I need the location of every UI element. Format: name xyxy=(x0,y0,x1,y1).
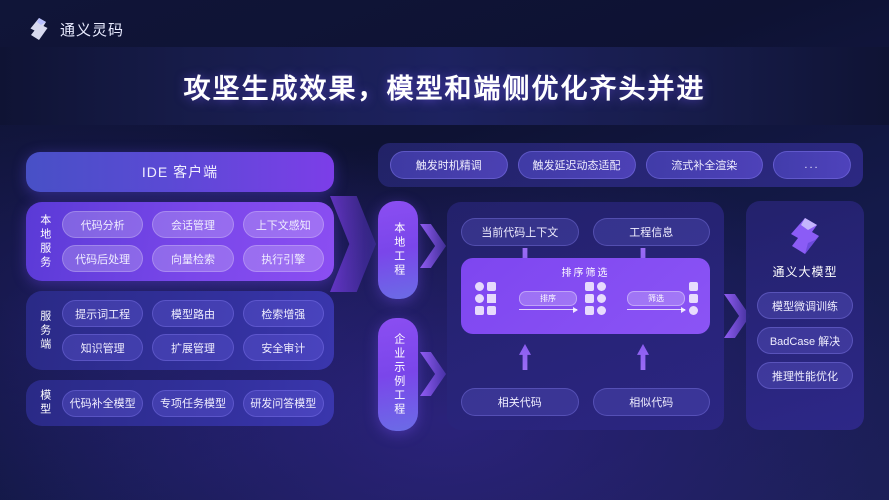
chip-context-awareness[interactable]: 上下文感知 xyxy=(243,211,324,238)
chip-task-specific-model[interactable]: 专项任务模型 xyxy=(152,390,233,417)
slide-canvas: 通义灵码 攻坚生成效果，模型和端侧优化齐头并进 IDE 客户端 本地服务 代码分… xyxy=(0,0,889,500)
band-label-model: 模型 xyxy=(34,389,54,417)
band-model: 模型 代码补全模型 专项任务模型 研发问答模型 xyxy=(26,380,334,426)
chip-streaming-completion-render[interactable]: 流式补全渲染 xyxy=(646,151,764,179)
model-panel: 通义大模型 模型微调训练 BadCase 解决 推理性能优化 xyxy=(746,201,864,430)
band-row: 代码分析 会话管理 上下文感知 xyxy=(62,211,324,238)
candidate-dots-right xyxy=(689,282,698,315)
band-label-server-side: 服务端 xyxy=(34,310,54,352)
top-feature-strip: 触发时机精调 触发延迟动态适配 流式补全渲染 ... xyxy=(378,143,863,187)
vtab-local-project[interactable]: 本地工程 xyxy=(378,201,418,299)
candidate-dots-left xyxy=(475,282,496,315)
chevron-right-icon-top xyxy=(420,224,446,268)
chip-inference-perf-optimization[interactable]: 推理性能优化 xyxy=(757,362,853,389)
vtab-enterprise-sample-project-label: 企业示例工程 xyxy=(392,333,404,417)
chip-related-code[interactable]: 相关代码 xyxy=(461,388,579,416)
chip-project-info[interactable]: 工程信息 xyxy=(593,218,711,246)
vtab-local-project-label: 本地工程 xyxy=(392,222,404,278)
brand-name: 通义灵码 xyxy=(60,19,124,40)
model-panel-title: 通义大模型 xyxy=(772,263,837,280)
chip-session-management[interactable]: 会话管理 xyxy=(152,211,233,238)
chip-prompt-engineering[interactable]: 提示词工程 xyxy=(62,300,143,327)
sort-filter-box: 排序筛选 排序 筛选 xyxy=(461,258,710,334)
chevron-right-icon-large xyxy=(330,196,376,292)
chip-current-code-context[interactable]: 当前代码上下文 xyxy=(461,218,579,246)
chip-vector-retrieval[interactable]: 向量检索 xyxy=(152,245,233,272)
chip-model-routing[interactable]: 模型路由 xyxy=(152,300,233,327)
tongyi-model-logo-icon xyxy=(784,215,826,257)
flow-arrow-filter-label: 筛选 xyxy=(627,291,685,306)
flow-arrow-sort-label: 排序 xyxy=(519,291,577,306)
chip-security-audit[interactable]: 安全审计 xyxy=(243,334,324,361)
band-row: 知识管理 扩展管理 安全审计 xyxy=(62,334,324,361)
flow-arrow-sort: 排序 xyxy=(519,291,577,310)
band-row: 代码后处理 向量检索 执行引擎 xyxy=(62,245,324,272)
candidate-dots-middle xyxy=(585,282,606,315)
arrow-up-icon-right xyxy=(637,344,649,370)
vtab-enterprise-sample-project[interactable]: 企业示例工程 xyxy=(378,318,418,431)
chip-knowledge-management[interactable]: 知识管理 xyxy=(62,334,143,361)
chip-dev-qa-model[interactable]: 研发问答模型 xyxy=(243,390,324,417)
brand-logo: 通义灵码 xyxy=(26,16,124,42)
center-bottom-chips: 相关代码 相似代码 xyxy=(461,388,710,416)
band-local-service: 本地服务 代码分析 会话管理 上下文感知 代码后处理 向量检索 执行引擎 xyxy=(26,202,334,281)
chip-code-completion-model[interactable]: 代码补全模型 xyxy=(62,390,143,417)
chip-badcase-resolution[interactable]: BadCase 解决 xyxy=(757,327,853,354)
chip-code-analysis[interactable]: 代码分析 xyxy=(62,211,143,238)
arrow-up-icon-left xyxy=(519,344,531,370)
sort-filter-title: 排序筛选 xyxy=(461,264,710,279)
chip-code-postprocess[interactable]: 代码后处理 xyxy=(62,245,143,272)
chip-trigger-latency-adaptation[interactable]: 触发延迟动态适配 xyxy=(518,151,636,179)
tongyi-lingma-logo-icon xyxy=(26,16,52,42)
band-server-side: 服务端 提示词工程 模型路由 检索增强 知识管理 扩展管理 安全审计 xyxy=(26,291,334,370)
chip-trigger-timing-tuning[interactable]: 触发时机精调 xyxy=(390,151,508,179)
chevron-right-icon-bottom xyxy=(420,352,446,396)
chip-execution-engine[interactable]: 执行引擎 xyxy=(243,245,324,272)
chip-model-finetune-training[interactable]: 模型微调训练 xyxy=(757,292,853,319)
band-row: 代码补全模型 专项任务模型 研发问答模型 xyxy=(62,390,324,417)
page-title: 攻坚生成效果，模型和端侧优化齐头并进 xyxy=(184,67,706,106)
ide-client-bar[interactable]: IDE 客户端 xyxy=(26,152,334,192)
band-row: 提示词工程 模型路由 检索增强 xyxy=(62,300,324,327)
title-band: 攻坚生成效果，模型和端侧优化齐头并进 xyxy=(0,47,889,125)
left-stack: IDE 客户端 本地服务 代码分析 会话管理 上下文感知 代码后处理 向量检索 … xyxy=(26,152,334,426)
chip-similar-code[interactable]: 相似代码 xyxy=(593,388,711,416)
flow-arrow-filter: 筛选 xyxy=(627,291,685,310)
center-pipeline-panel: 当前代码上下文 工程信息 排序筛选 排序 筛选 xyxy=(447,202,724,430)
chip-retrieval-augmentation[interactable]: 检索增强 xyxy=(243,300,324,327)
center-top-chips: 当前代码上下文 工程信息 xyxy=(461,218,710,246)
band-label-local-service: 本地服务 xyxy=(34,214,54,270)
chip-extension-management[interactable]: 扩展管理 xyxy=(152,334,233,361)
chip-more[interactable]: ... xyxy=(773,151,851,179)
